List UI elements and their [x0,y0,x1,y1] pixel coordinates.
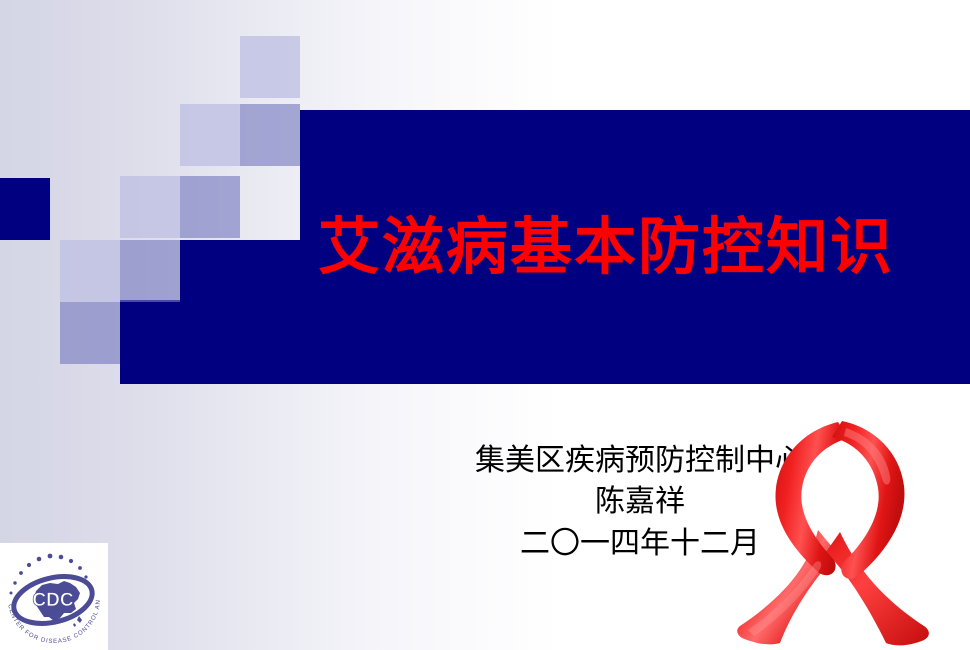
slide-title: 艾滋病基本防控知识 [318,212,918,281]
decorative-square-8 [60,302,120,364]
decorative-square-5 [180,176,240,238]
decorative-square-1 [240,36,300,98]
decorative-square-2 [180,104,240,166]
china-cdc-logo: CDC CENTER FOR DISEASE CONTROL AND PREVE… [0,543,108,650]
decorative-square-3 [240,104,300,166]
decorative-square-4 [120,176,180,238]
decorative-square-6 [60,240,120,302]
aids-red-ribbon [718,412,964,650]
presentation-slide: 艾滋病基本防控知识 集美区疾病预防控制中心 陈嘉祥 二〇一四年十二月 [0,0,970,650]
navy-panel-lower [120,300,310,384]
cdc-wordmark: CDC [32,590,73,611]
decorative-square-7 [120,240,180,302]
navy-accent-square [0,178,50,240]
